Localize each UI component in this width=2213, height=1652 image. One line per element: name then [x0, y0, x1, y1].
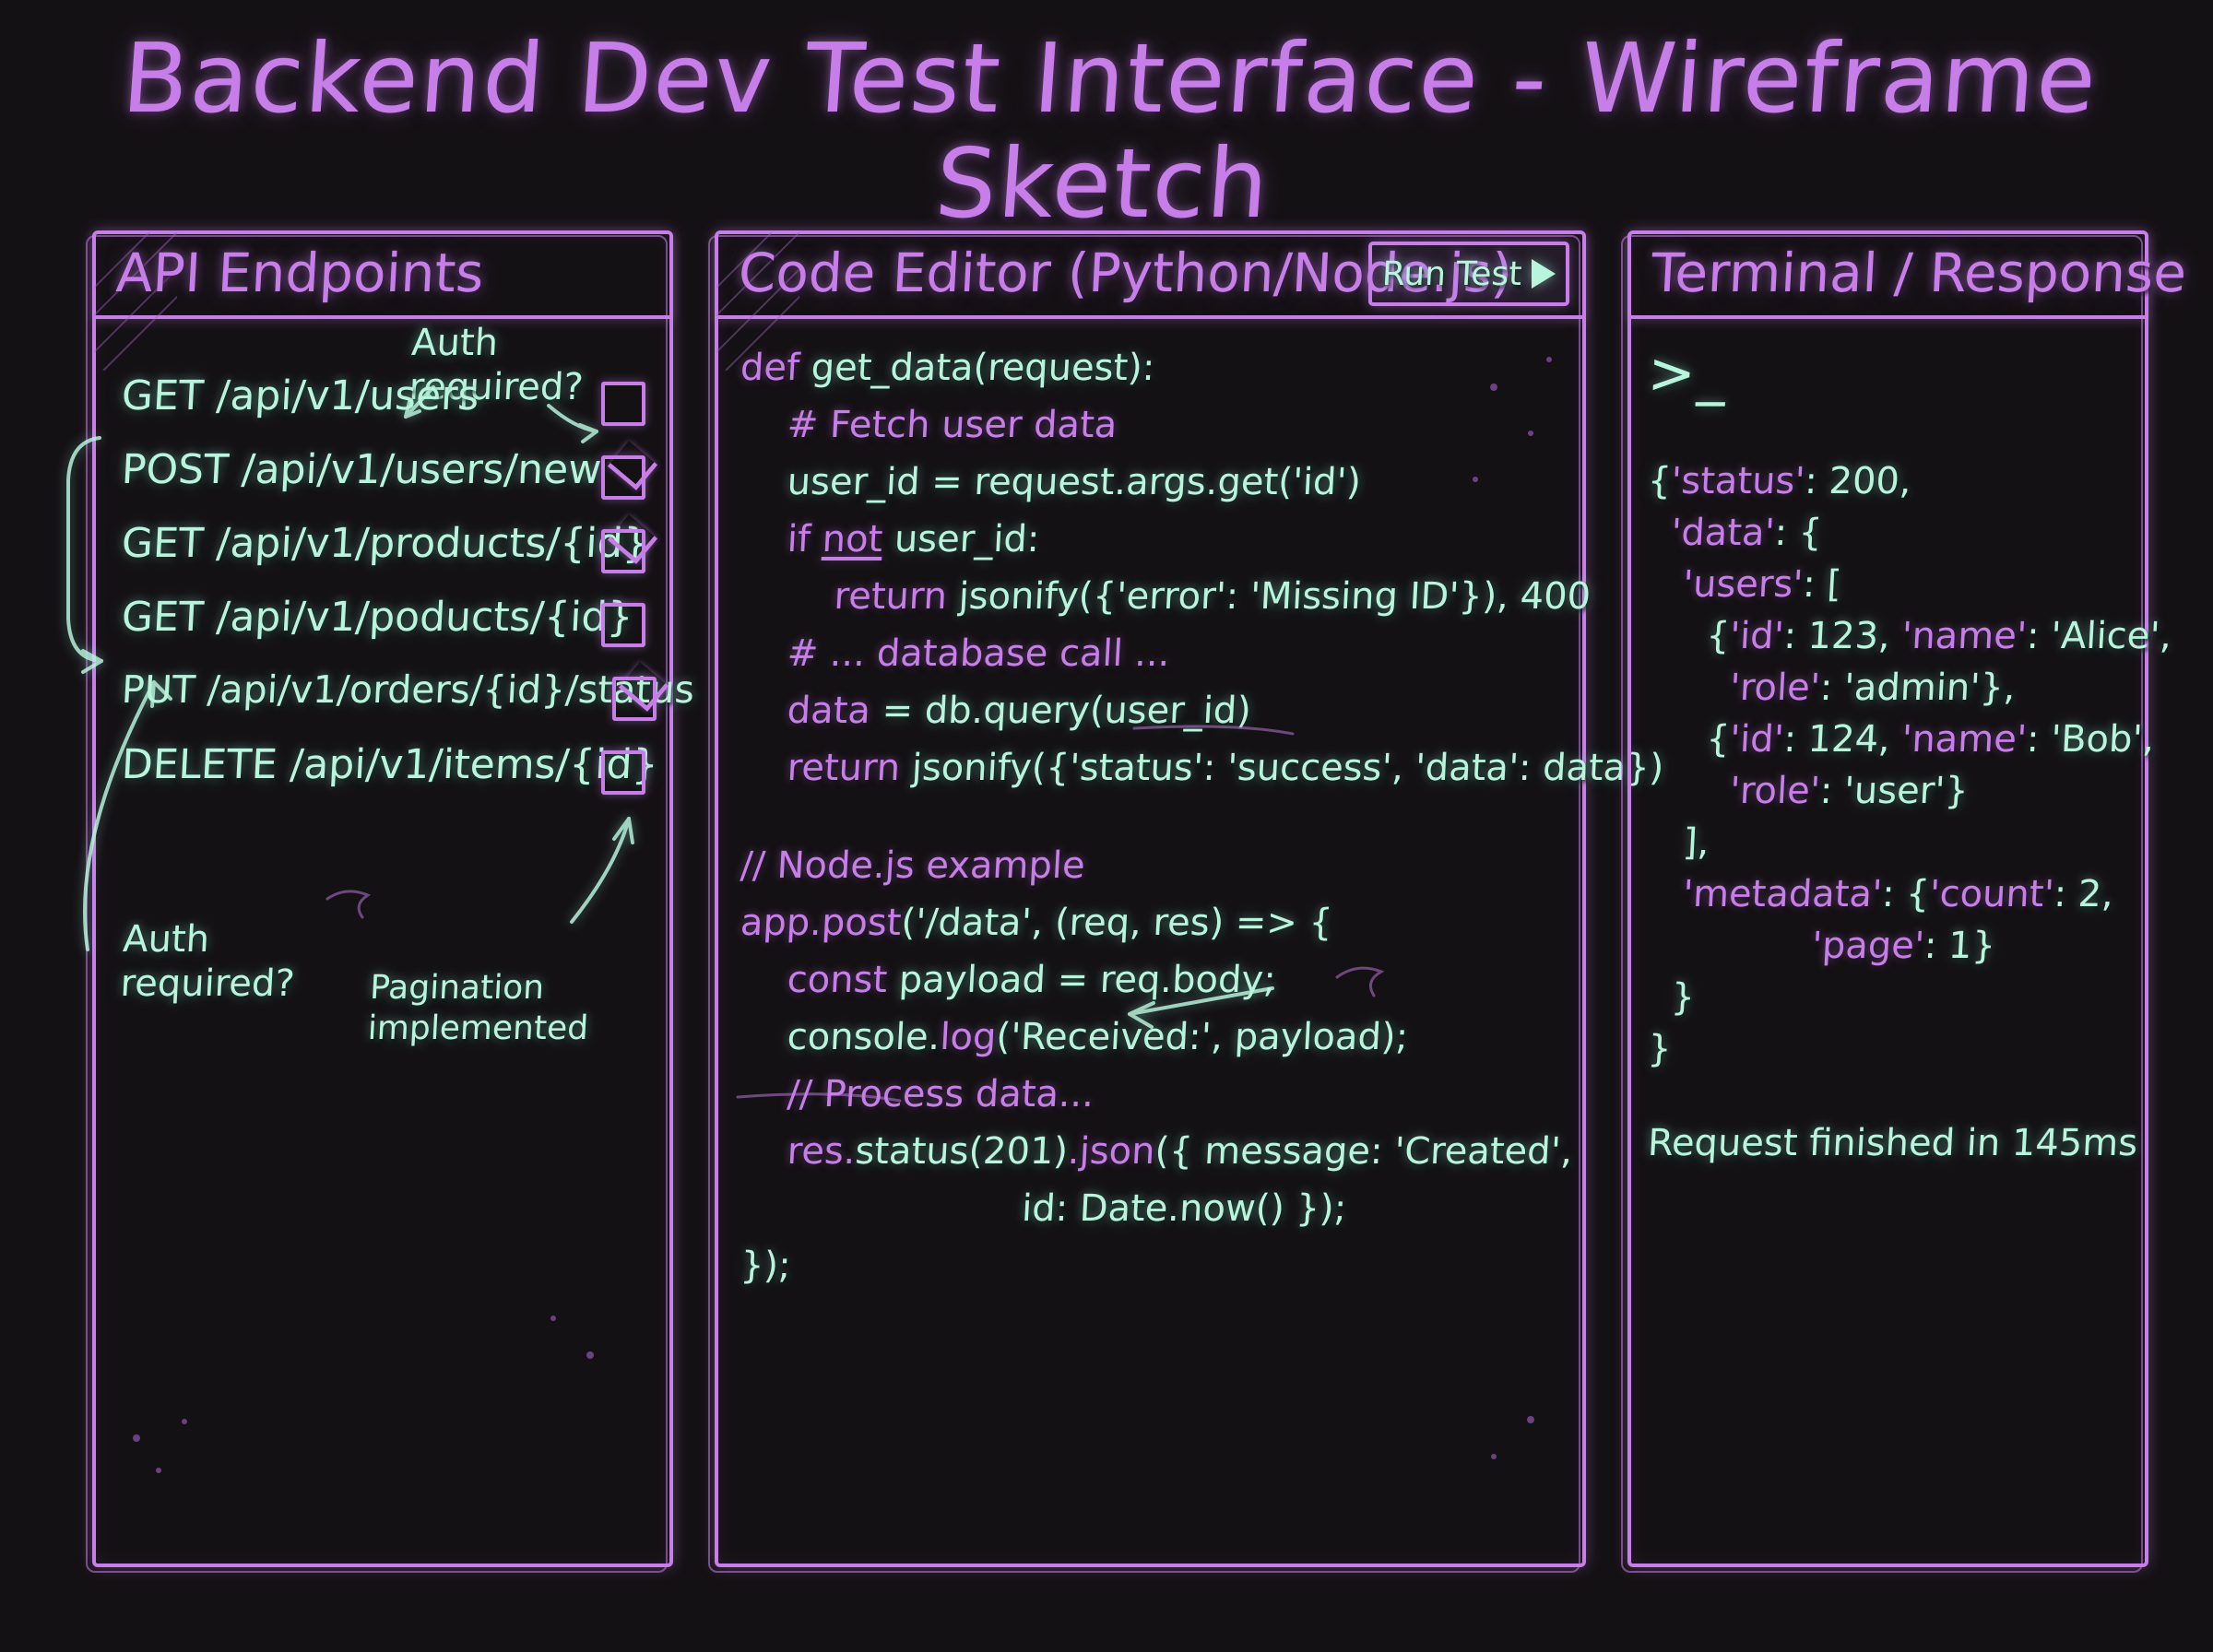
terminal-panel: Terminal / Response >_ {'status': 200, '… — [1627, 230, 2148, 1567]
code-line: user_id = request.args.get('id') — [739, 454, 1568, 511]
code-line: # ... database call ... — [739, 625, 1568, 682]
terminal-line: 'metadata': {'count': 2, — [1647, 868, 2136, 920]
run-test-button[interactable]: Run Test — [1368, 242, 1569, 306]
auth-checkbox[interactable] — [601, 529, 645, 573]
endpoint-row[interactable]: GET /api/v1/users — [118, 369, 653, 442]
auth-checkbox[interactable] — [601, 382, 645, 426]
endpoint-label: GET /api/v1/poducts/{id} — [121, 594, 634, 641]
endpoint-row[interactable]: DELETE /api/v1/items/{id} — [118, 737, 653, 811]
endpoint-label: GET /api/v1/products/{id} — [121, 520, 650, 567]
terminal-line: } — [1647, 1023, 2136, 1075]
json-response-block: {'status': 200, 'data': { 'users': [ {'i… — [1648, 455, 2134, 1075]
code-line: // Process data... — [739, 1066, 1568, 1123]
endpoint-row[interactable]: PUT /api/v1/orders/{id}/status — [118, 664, 653, 737]
terminal-line: 'data': { — [1647, 507, 2136, 559]
panel-title-endpoints: API Endpoints — [114, 243, 485, 302]
terminal-line: 'role': 'admin'}, — [1647, 662, 2136, 714]
node-code-block: // Node.js exampleapp.post('/data', (req… — [740, 837, 1568, 1294]
code-line: data = db.query(user_id) — [739, 682, 1568, 739]
code-line: def get_data(request): — [739, 339, 1568, 396]
code-content[interactable]: def get_data(request): # Fetch user data… — [740, 339, 1568, 1294]
code-line: }); — [739, 1237, 1568, 1294]
code-line: app.post('/data', (req, res) => { — [739, 894, 1568, 951]
endpoint-label: PUT /api/v1/orders/{id}/status — [121, 667, 696, 712]
python-code-block: def get_data(request): # Fetch user data… — [740, 339, 1568, 796]
auth-checkbox[interactable] — [601, 750, 645, 795]
code-line: // Node.js example — [739, 837, 1568, 894]
code-line: const payload = req.body; — [739, 951, 1568, 1009]
terminal-line: } — [1647, 972, 2136, 1023]
run-test-label: Run Test — [1381, 255, 1523, 293]
code-line: if not user_id: — [739, 511, 1568, 568]
terminal-line: {'id': 123, 'name': 'Alice', — [1647, 610, 2136, 662]
pagination-annotation: Pagination implemented — [367, 968, 592, 1049]
code-spacer — [740, 796, 1568, 837]
code-line: # Fetch user data — [739, 396, 1568, 454]
request-status-text: Request finished in 145ms — [1647, 1117, 2136, 1169]
auth-checkbox[interactable] — [601, 603, 645, 647]
code-line: console.log('Received:', payload); — [739, 1009, 1568, 1066]
play-triangle-icon — [1532, 259, 1556, 289]
terminal-line: ], — [1647, 817, 2136, 868]
code-line: return jsonify({'status': 'success', 'da… — [739, 739, 1568, 796]
endpoint-row[interactable]: GET /api/v1/products/{id} — [118, 516, 653, 590]
auth-required-annotation: Auth required? — [119, 917, 298, 1006]
endpoint-label: GET /api/v1/users — [121, 372, 480, 419]
terminal-line: {'id': 124, 'name': 'Bob', — [1647, 714, 2136, 765]
terminal-line: 'page': 1} — [1647, 920, 2136, 972]
code-line: res.status(201).json({ message: 'Created… — [739, 1123, 1568, 1180]
panel-title-terminal: Terminal / Response — [1650, 243, 2187, 302]
code-editor-panel: Code Editor (Python/Node.js) Run Test de… — [715, 230, 1586, 1567]
endpoint-label: DELETE /api/v1/items/{id} — [121, 741, 659, 788]
auth-checkbox[interactable] — [612, 677, 657, 721]
code-line: return jsonify({'error': 'Missing ID'}),… — [739, 568, 1568, 625]
endpoint-row[interactable]: GET /api/v1/poducts/{id} — [118, 590, 653, 664]
terminal-prompt: >_ — [1646, 341, 2136, 406]
endpoint-list: GET /api/v1/users POST /api/v1/users/new… — [118, 369, 653, 811]
terminal-line: 'users': [ — [1647, 559, 2136, 610]
endpoint-label: POST /api/v1/users/new — [121, 446, 603, 493]
terminal-line: {'status': 200, — [1647, 455, 2136, 507]
page-title: Backend Dev Test Interface - Wireframe S… — [0, 26, 2213, 237]
terminal-content[interactable]: >_ {'status': 200, 'data': { 'users': [ … — [1648, 341, 2134, 1169]
terminal-line: 'role': 'user'} — [1647, 765, 2136, 817]
api-endpoints-panel: API Endpoints Auth required? GET /api/v1… — [92, 230, 673, 1567]
endpoint-row[interactable]: POST /api/v1/users/new — [118, 442, 653, 516]
code-line: id: Date.now() }); — [739, 1180, 1568, 1237]
auth-checkbox[interactable] — [601, 455, 645, 500]
